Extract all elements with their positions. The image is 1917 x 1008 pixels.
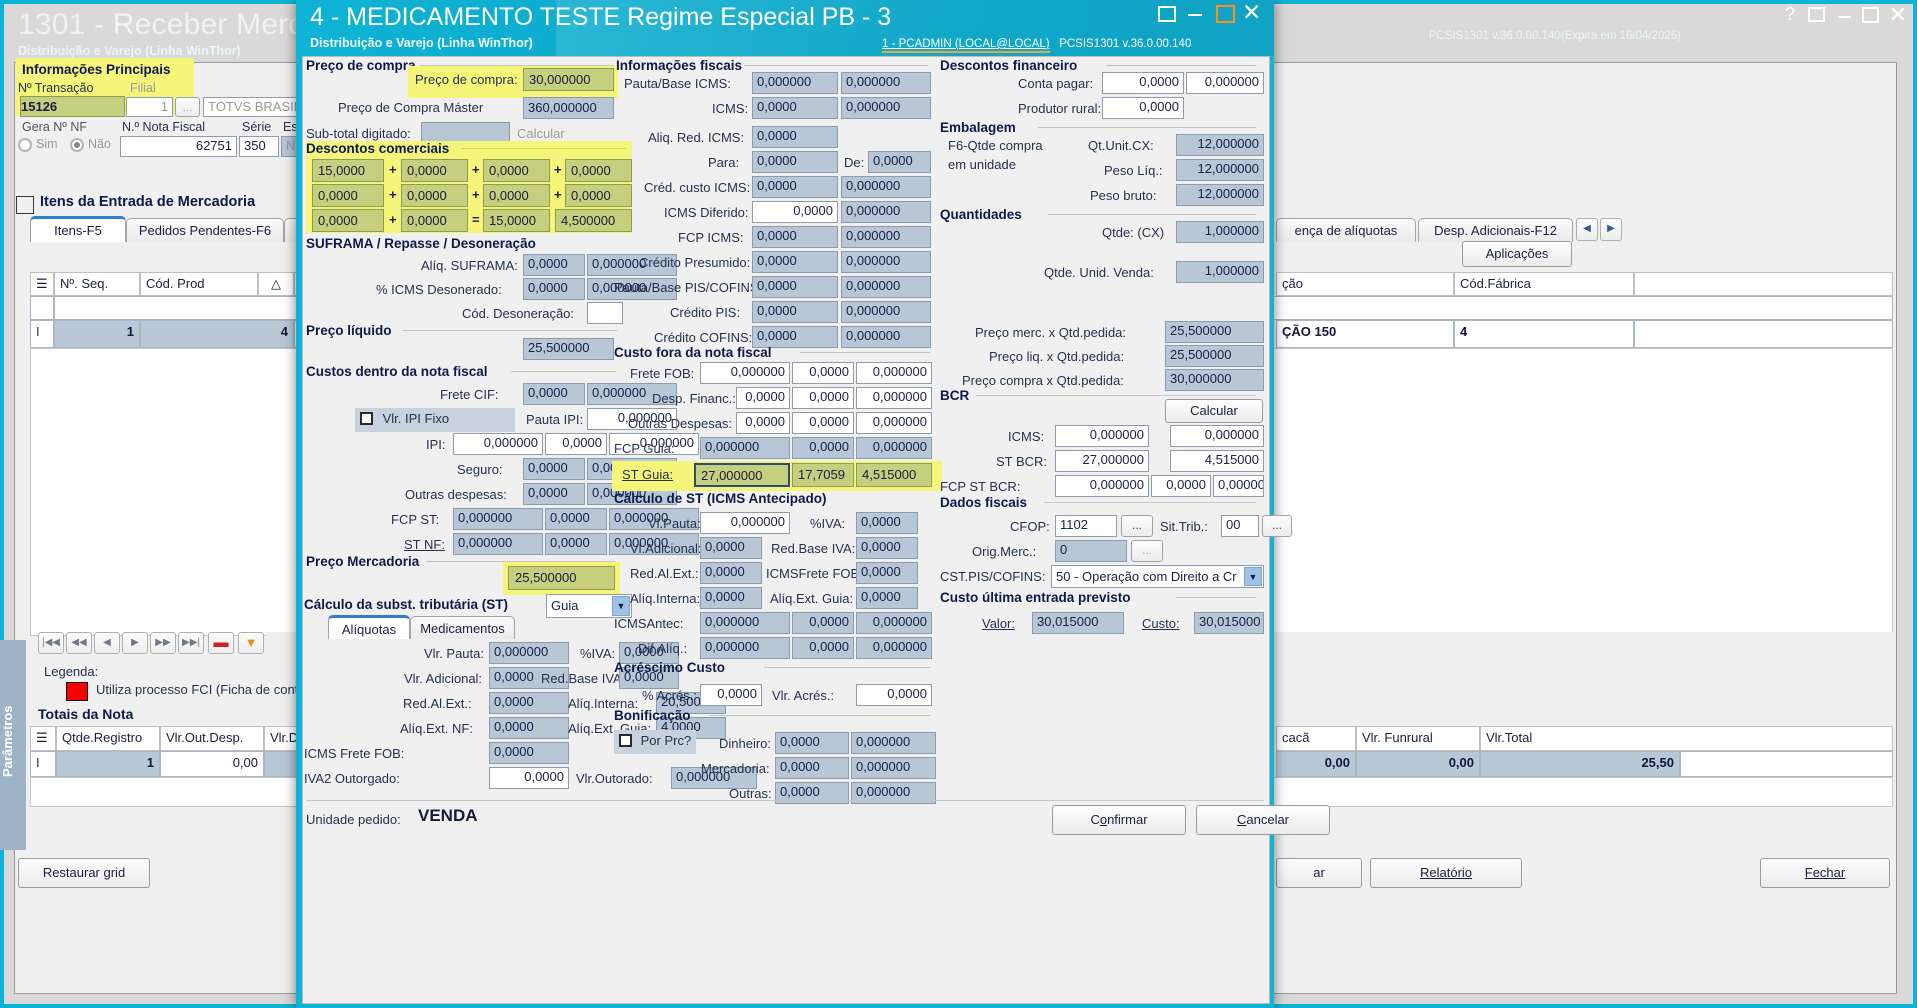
ant-vl-pauta-v1[interactable]: 0,000000 <box>700 512 790 534</box>
desconto-1-4[interactable]: 0,0000 <box>565 159 632 182</box>
modal-version: PCSIS1301 v.36.0.00.140 <box>1059 38 1191 50</box>
help-icon[interactable]: ? <box>1785 4 1795 25</box>
suframa-caption: SUFRAMA / Repasse / Desoneração <box>306 236 536 251</box>
embalagem-caption: Embalagem <box>940 120 1016 135</box>
bcr-icms-v1[interactable]: 0,000000 <box>1055 425 1149 447</box>
confirmar-label: Confirmar <box>1090 812 1147 827</box>
prev-record-icon[interactable]: ◀ <box>94 632 120 654</box>
cst-pis-cofins-label: CST.PIS/COFINS: <box>940 569 1045 584</box>
gera-nf-label: Gera Nº NF <box>22 120 87 134</box>
bcr-caption: BCR <box>940 388 969 403</box>
totals-col-outdesp[interactable]: Vlr.Out.Desp. <box>160 726 264 751</box>
sit-trib-input[interactable]: 00 <box>1221 515 1259 537</box>
ant-dif-aliq-v3: 0,000000 <box>856 637 932 659</box>
desconto-2-1[interactable]: 0,0000 <box>312 184 384 207</box>
fechar-button[interactable]: Fechar <box>1760 858 1890 888</box>
legend-color-swatch <box>66 682 88 701</box>
transacao-input[interactable]: 15126 <box>20 96 125 117</box>
modal-user-info: 1 - PCADMIN (LOCAL@LOCAL) PCSIS1301 v.36… <box>882 38 1191 50</box>
descontos-comerciais-caption: Descontos comerciais <box>306 141 449 156</box>
desconto-3-1[interactable]: 0,0000 <box>312 209 384 232</box>
cred-custo-icms-v1[interactable]: 0,0000 <box>752 176 838 198</box>
cred-custo-icms-v2: 0,000000 <box>841 176 931 198</box>
ant-dif-aliq-v2: 0,0000 <box>792 637 854 659</box>
bcr-fcp-st-label: FCP ST BCR: <box>940 479 1020 494</box>
frete-fob-v1[interactable]: 0,000000 <box>700 362 790 384</box>
ant-icms-frete-fob-v1[interactable]: 0,0000 <box>856 562 918 584</box>
table-row-blank <box>1634 320 1893 348</box>
st-guia-v3: 4,515000 <box>856 463 932 487</box>
modal-title: 4 - MEDICAMENTO TESTE Regime Especial PB… <box>310 3 891 32</box>
cfop-input[interactable]: 1102 <box>1055 515 1117 537</box>
vlr-ipi-fixo-label: Vlr. IPI Fixo <box>383 411 449 426</box>
bcr-st-v2[interactable]: 4,515000 <box>1170 450 1264 472</box>
ant-icmsantec-v1[interactable]: 0,000000 <box>700 612 790 634</box>
background-window-version: PCSIS1301 v.36.0.00.140(Expira em 16/04/… <box>1429 30 1681 42</box>
pauta-base-pis-cofins-label: Pauta/Base PIS/COFINS: <box>614 280 762 295</box>
st-aliq-ext-nf-label: Alíq.Ext. NF: <box>400 721 473 736</box>
desconto-3-2[interactable]: 0,0000 <box>401 209 468 232</box>
close-icon[interactable]: ✕ <box>1889 2 1907 28</box>
cfop-label: CFOP: <box>1010 519 1050 534</box>
expand-panel-icon[interactable] <box>16 196 34 214</box>
ant-aliq-interna-v1[interactable]: 0,0000 <box>700 587 762 609</box>
desconto-op-7: + <box>389 212 397 227</box>
orig-merc-value: 0 <box>1055 540 1127 562</box>
seguro-v1[interactable]: 0,0000 <box>523 458 585 480</box>
restore-icon[interactable] <box>1808 7 1825 22</box>
outras-despesas-fora-v2[interactable]: 0,0000 <box>792 412 854 434</box>
acrescimo-pct-label: % Acrés.: <box>642 688 697 703</box>
table-row-seq[interactable]: 1 <box>54 320 140 348</box>
calcular-button-top[interactable]: Calcular <box>517 126 565 141</box>
relatorio-label: Relatório <box>1420 865 1472 880</box>
nota-fiscal-input[interactable]: 62751 <box>120 136 237 157</box>
custo-ultima-custo-value: 30,015000 <box>1194 612 1264 634</box>
desconto-op-3: + <box>554 162 562 177</box>
para-v1[interactable]: 0,0000 <box>752 151 838 173</box>
icms-desonerado-v1[interactable]: 0,0000 <box>523 278 585 300</box>
last-record-icon[interactable]: ▶▶| <box>178 632 204 654</box>
table-row-cod-fabrica[interactable]: 4 <box>1454 320 1634 348</box>
bonif-mercadoria-label: Mercadoria: <box>701 761 770 776</box>
desconto-2-3[interactable]: 0,0000 <box>483 184 550 207</box>
minimize-icon[interactable] <box>1188 14 1202 16</box>
tabs-scroll-left-icon[interactable]: ◀ <box>1576 218 1598 241</box>
radio-nao-label: Não <box>88 137 111 151</box>
aliq-suframa-v1[interactable]: 0,0000 <box>523 254 585 276</box>
calc-st-caption: Cálculo da subst. tributária (ST) <box>304 597 508 612</box>
ar-button[interactable]: ar <box>1276 858 1362 888</box>
filial-label: Filial <box>130 81 156 95</box>
desconto-op-5: + <box>472 187 480 202</box>
custo-ultima-caption: Custo última entrada previsto <box>940 590 1131 605</box>
ipi-label: IPI: <box>426 437 446 452</box>
minimize-icon[interactable] <box>1838 16 1851 18</box>
tab-itens-f5[interactable]: Itens-F5 <box>30 216 126 242</box>
pauta-ipi-label: Pauta IPI: <box>526 412 583 427</box>
delete-record-icon[interactable]: ▬ <box>208 632 234 654</box>
cod-desoneracao-label: Cód. Desoneração: <box>462 306 574 321</box>
custo-ultima-custo-label[interactable]: Custo: <box>1142 616 1180 631</box>
st-red-base-iva-label: Red.Base IVA: <box>541 671 625 686</box>
grid-corner-icon: ☰ <box>30 272 54 296</box>
de-label: De: <box>844 155 864 170</box>
ant-icmsantec-v2: 0,0000 <box>792 612 854 634</box>
row-indicator-icon: I <box>30 320 54 348</box>
col-blank <box>1634 272 1893 296</box>
ant-dif-aliq-v1[interactable]: 0,000000 <box>700 637 790 659</box>
st-aliq-ext-nf-value[interactable]: 0,0000 <box>489 717 569 739</box>
desconto-3-valor: 4,500000 <box>555 209 632 232</box>
fcp-guia-v1[interactable]: 0,000000 <box>700 437 790 459</box>
st-red-al-ext-value[interactable]: 0,0000 <box>489 692 569 714</box>
fcp-icms-v1[interactable]: 0,0000 <box>752 226 838 248</box>
col-descricao[interactable]: ção <box>1276 272 1454 296</box>
preco-compra-qtd-value: 30,000000 <box>1165 369 1264 391</box>
prev-page-icon[interactable]: ◀◀ <box>66 632 92 654</box>
totals-col-qtde[interactable]: Qtde.Registro <box>56 726 160 751</box>
dados-fiscais-caption: Dados fiscais <box>940 495 1027 510</box>
totals-corner-icon: ☰ <box>30 726 56 751</box>
desconto-1-3[interactable]: 0,0000 <box>483 159 550 182</box>
bcr-fcp-st-v1[interactable]: 0,000000 <box>1055 475 1149 497</box>
custos-nf-caption: Custos dentro da nota fiscal <box>306 364 488 379</box>
ant-red-al-ext-label: Red.Al.Ext.: <box>630 566 699 581</box>
por-prc-box[interactable]: Por Prc? <box>614 730 696 754</box>
radio-nao[interactable] <box>70 138 84 152</box>
frete-fob-v2[interactable]: 0,0000 <box>792 362 854 384</box>
seguro-label: Seguro: <box>457 462 503 477</box>
acrescimo-custo-caption: Acréscimo Custo <box>614 660 725 675</box>
item-detail-modal: 4 - MEDICAMENTO TESTE Regime Especial PB… <box>296 0 1274 1008</box>
cod-desoneracao-input[interactable] <box>587 302 623 324</box>
relatorio-button[interactable]: Relatório <box>1370 858 1522 888</box>
totals-col-total[interactable]: Vlr.Total <box>1480 726 1893 751</box>
preco-liq-qtd-label: Preço liq. x Qtd.pedida: <box>989 349 1124 364</box>
ant-iva-v1[interactable]: 0,0000 <box>856 512 918 534</box>
maximize-icon[interactable] <box>1216 5 1235 23</box>
sit-trib-browse-button[interactable]: ... <box>1262 515 1292 537</box>
icms-label: ICMS: <box>712 101 748 116</box>
icms-diferido-label: ICMS Diferido: <box>664 205 749 220</box>
icms-v1[interactable]: 0,0000 <box>752 97 838 119</box>
acrescimo-vlr-value[interactable]: 0,0000 <box>856 684 932 706</box>
ant-aliq-ext-guia-label: Alíq.Ext. Guia: <box>770 591 853 606</box>
ant-red-base-iva-v1[interactable]: 0,0000 <box>856 537 918 559</box>
unidade-pedido-value: VENDA <box>418 806 478 826</box>
st-vlr-pauta-value[interactable]: 0,000000 <box>489 642 569 664</box>
aliq-red-icms-label: Aliq. Red. ICMS: <box>648 130 744 145</box>
confirmar-button[interactable]: Confirmar <box>1052 805 1186 835</box>
totals-row-cacao[interactable]: 0,00 <box>1276 751 1356 777</box>
acrescimo-vlr-label: Vlr. Acrés.: <box>772 688 834 703</box>
preco-liquido-caption: Preço líquido <box>306 323 392 338</box>
ant-icmsantec-label: ICMSAntec: <box>614 616 683 631</box>
items-section-caption: Itens da Entrada de Mercadoria <box>40 194 255 210</box>
tab-aliquotas[interactable]: Alíquotas <box>328 615 410 639</box>
embalagem-note-line2: em unidade <box>948 157 1016 172</box>
preco-merc-qtd-label: Preço merc. x Qtd.pedida: <box>975 325 1126 340</box>
serie-label: Série <box>242 120 271 134</box>
serie-input[interactable]: 350 <box>239 136 279 157</box>
ipi-v2[interactable]: 0,0000 <box>545 433 607 455</box>
conta-pagar-label: Conta pagar: <box>1018 76 1093 91</box>
bcr-icms-v2[interactable]: 0,000000 <box>1170 425 1264 447</box>
vlr-ipi-fixo-box[interactable]: Vlr. IPI Fixo <box>355 408 515 432</box>
desp-financ-v3[interactable]: 0,000000 <box>856 387 932 409</box>
totals-row-outdesp[interactable]: 0,00 <box>160 751 264 777</box>
ant-icmsantec-v3: 0,000000 <box>856 612 932 634</box>
cfop-browse-button[interactable]: ... <box>1121 515 1153 537</box>
tab-medicamentos[interactable]: Medicamentos <box>410 616 515 639</box>
para-label: Para: <box>708 155 739 170</box>
chevron-down-icon[interactable]: ▼ <box>612 596 630 616</box>
totals-col-cacao[interactable]: cacã <box>1276 726 1356 751</box>
st-guia-label[interactable]: ST Guia: <box>622 467 673 482</box>
st-vlr-outorado-label: Vlr.Outorado: <box>576 771 653 786</box>
bcr-st-v1[interactable]: 27,000000 <box>1055 450 1149 472</box>
totals-row-total[interactable]: 25,50 <box>1480 751 1680 777</box>
fcp-guia-v3: 0,000000 <box>856 437 932 459</box>
frete-fob-v3[interactable]: 0,000000 <box>856 362 932 384</box>
calc-st-antecipado-caption: Cálculo de ST (ICMS Antecipado) <box>614 491 827 506</box>
desconto-1-2[interactable]: 0,0000 <box>401 159 468 182</box>
qtde-cx-value: 1,000000 <box>1176 221 1264 243</box>
st-icms-frete-fob-value[interactable]: 0,0000 <box>489 742 569 764</box>
icms-diferido-v1[interactable]: 0,0000 <box>752 201 838 223</box>
conta-pagar-v2[interactable]: 0,000000 <box>1186 72 1264 94</box>
close-icon[interactable]: ✕ <box>1242 0 1261 26</box>
col-cod-fabrica[interactable]: Cód.Fábrica <box>1454 272 1634 296</box>
credito-pis-v2: 0,000000 <box>841 301 931 323</box>
pauta-base-icms-v1[interactable]: 0,000000 <box>752 72 838 94</box>
sort-indicator-icon: △ <box>258 272 294 296</box>
credito-pis-v1[interactable]: 0,0000 <box>752 301 838 323</box>
conta-pagar-v1[interactable]: 0,0000 <box>1102 72 1184 94</box>
bonif-dinheiro-v1[interactable]: 0,0000 <box>775 732 849 754</box>
background-window-subtitle: Distribuição e Varejo (Linha WinThor) <box>18 44 241 58</box>
table-row-descricao[interactable]: ÇÃO 150 <box>1276 320 1454 348</box>
preco-compra-qtd-label: Preço compra x Qtd.pedida: <box>962 373 1124 388</box>
cancelar-label: Cancelar <box>1237 812 1289 827</box>
st-nf-v2: 0,0000 <box>545 533 607 555</box>
desconto-op-6: + <box>554 187 562 202</box>
bonif-mercadoria-v2: 0,000000 <box>851 757 936 779</box>
totals-row-funrural[interactable]: 0,00 <box>1356 751 1480 777</box>
first-record-icon[interactable]: |◀◀ <box>38 632 64 654</box>
peso-bruto-label: Peso bruto: <box>1090 188 1157 203</box>
grid-subrow-left <box>30 296 54 320</box>
qtde-cx-label: Qtde: (CX) <box>1102 225 1164 240</box>
next-record-icon[interactable]: ▶ <box>122 632 148 654</box>
qt-unit-cx-value: 12,000000 <box>1176 134 1264 156</box>
filter-icon[interactable]: ▼ <box>238 632 264 654</box>
tab-desp-adicionais-f12[interactable]: Desp. Adicionais-F12 <box>1418 218 1573 242</box>
ant-vl-pauta-label: Vl.Pauta: <box>648 516 701 531</box>
custo-fora-nf-caption: Custo fora da nota fiscal <box>614 345 772 360</box>
qtde-unid-venda-label: Qtde. Unid. Venda: <box>1044 265 1154 280</box>
tab-pedidos-pendentes[interactable]: Pedidos Pendentes-F6 <box>126 218 284 242</box>
acrescimo-pct-value[interactable]: 0,0000 <box>700 684 762 706</box>
frete-cif-v1[interactable]: 0,0000 <box>523 383 585 405</box>
col-cod-prod[interactable]: Cód. Prod <box>140 272 258 296</box>
custo-ultima-valor-label[interactable]: Valor: <box>982 616 1015 631</box>
st-vlr-adicional-label: Vlr. Adicional: <box>404 671 482 686</box>
st-iva2-outorgado-value[interactable]: 0,0000 <box>489 767 569 789</box>
desconto-op-2: + <box>472 162 480 177</box>
bonif-dinheiro-v2: 0,000000 <box>851 732 936 754</box>
legend-text: Utiliza processo FCI (Ficha de cont <box>96 682 298 697</box>
modal-subtitle: Distribuição e Varejo (Linha WinThor) <box>310 36 533 50</box>
parametros-vertical-tab[interactable]: Parâmetros <box>0 640 26 850</box>
st-nf-label[interactable]: ST NF: <box>404 537 445 552</box>
cancelar-button[interactable]: Cancelar <box>1196 805 1330 835</box>
ant-iva-label: %IVA: <box>810 516 845 531</box>
totals-col-funrural[interactable]: Vlr. Funrural <box>1356 726 1480 751</box>
tabs-scroll-right-icon[interactable]: ▶ <box>1600 218 1622 241</box>
restore-icon[interactable] <box>1158 6 1176 22</box>
preco-compra-master-field: 360,000000 <box>523 97 614 119</box>
col-seq[interactable]: Nº. Seq. <box>54 272 140 296</box>
totals-caption: Totais da Nota <box>38 706 133 722</box>
ant-aliq-ext-guia-v1[interactable]: 0,0000 <box>856 587 918 609</box>
credito-cofins-label: Crédito COFINS: <box>654 330 752 345</box>
ant-red-base-iva-label: Red.Base IVA: <box>771 541 855 556</box>
outras-despesas-fora-v1[interactable]: 0,0000 <box>736 412 790 434</box>
fcp-guia-label: FCP Guia: <box>614 441 674 456</box>
credito-presumido-label: Crédito Presumido: <box>639 255 750 270</box>
outras-despesas-fora-v3[interactable]: 0,000000 <box>856 412 932 434</box>
outras-despesas-fora-label: Outras Despesas: <box>628 416 732 431</box>
bonif-mercadoria-v1[interactable]: 0,0000 <box>775 757 849 779</box>
embalagem-note-line1: F6-Qtde compra <box>948 138 1043 153</box>
pauta-base-pis-cofins-v1[interactable]: 0,0000 <box>752 276 838 298</box>
maximize-icon[interactable] <box>1862 7 1879 23</box>
filial-browse-button[interactable]: ... <box>175 97 200 117</box>
icms-desonerado-label: % ICMS Desonerado: <box>376 282 502 297</box>
bonif-dinheiro-label: Dinheiro: <box>719 736 771 751</box>
fcp-st-v1[interactable]: 0,000000 <box>453 508 543 530</box>
qt-unit-cx-label: Qt.Unit.CX: <box>1088 138 1154 153</box>
frete-fob-label: Frete FOB: <box>630 366 694 381</box>
main-info-caption: Informações Principais <box>22 62 171 77</box>
chevron-down-icon[interactable]: ▼ <box>1244 567 1262 586</box>
credito-cofins-v2: 0,000000 <box>841 326 931 348</box>
icms-diferido-v2: 0,000000 <box>841 201 931 223</box>
de-v1[interactable]: 0,0000 <box>868 151 931 173</box>
bcr-fcp-st-v3[interactable]: 0,000000 <box>1213 475 1264 497</box>
st-red-al-ext-label: Red.Al.Ext.: <box>403 696 472 711</box>
calc-st-select[interactable]: Guia ▼ <box>546 594 632 618</box>
unidade-pedido-label: Unidade pedido: <box>306 812 401 827</box>
desconto-op-1: + <box>389 162 397 177</box>
desp-financ-label: Desp. Financ.: <box>652 391 736 406</box>
produtor-rural-v1[interactable]: 0,0000 <box>1102 97 1184 119</box>
totals-row-qtde[interactable]: 1 <box>56 751 160 777</box>
st-vlr-pauta-label: Vlr. Pauta: <box>424 646 484 661</box>
bcr-st-label: ST BCR: <box>996 454 1047 469</box>
fcp-icms-label: FCP ICMS: <box>678 230 744 245</box>
fcp-st-v2: 0,0000 <box>545 508 607 530</box>
filial-input[interactable]: 1 <box>126 97 173 117</box>
icms-v2: 0,000000 <box>841 97 931 119</box>
vlr-ipi-fixo-checkbox[interactable] <box>360 412 373 425</box>
credito-pis-label: Crédito PIS: <box>670 305 740 320</box>
outras-despesas-label: Outras despesas: <box>405 487 507 502</box>
orig-merc-browse-button[interactable]: ... <box>1131 540 1163 562</box>
outras-despesas-v1[interactable]: 0,0000 <box>523 483 585 505</box>
preco-compra-input[interactable]: 30,000000 <box>523 68 614 91</box>
credito-presumido-v1[interactable]: 0,0000 <box>752 251 838 273</box>
restaurar-grid-button[interactable]: Restaurar grid <box>18 858 150 888</box>
bonif-outras-label: Outras: <box>729 786 772 801</box>
por-prc-label: Por Prc? <box>641 733 692 748</box>
st-iva2-outorgado-label: IVA2 Outorgado: <box>304 771 400 786</box>
bcr-calcular-button[interactable]: Calcular <box>1165 399 1263 423</box>
next-page-icon[interactable]: ▶▶ <box>150 632 176 654</box>
radio-sim[interactable] <box>18 138 32 152</box>
desconto-3-total: 15,0000 <box>483 209 550 232</box>
orig-merc-label: Orig.Merc.: <box>972 544 1036 559</box>
info-fiscais-caption: Informações fiscais <box>616 58 742 73</box>
ant-vl-adicional-v1[interactable]: 0,0000 <box>700 537 762 559</box>
ant-icms-frete-fob-label: ICMSFrete FOB: <box>766 566 863 581</box>
bcr-icms-label: ICMS: <box>1008 429 1044 444</box>
credito-presumido-v2: 0,000000 <box>841 251 931 273</box>
legend-caption: Legenda: <box>44 664 98 679</box>
desp-financ-v2[interactable]: 0,0000 <box>792 387 854 409</box>
peso-bruto-value: 12,000000 <box>1176 184 1264 206</box>
transacao-label: Nº Transação <box>18 81 93 95</box>
ant-vl-adicional-label: Vl.Adicional: <box>630 541 702 556</box>
aliq-red-icms-v1[interactable]: 0,0000 <box>752 126 838 148</box>
pauta-base-icms-v2: 0,000000 <box>841 72 931 94</box>
bcr-fcp-st-v2[interactable]: 0,0000 <box>1151 475 1211 497</box>
st-icms-frete-fob-label: ICMS Frete FOB: <box>304 746 404 761</box>
ant-dif-aliq-label: Dif.Alíq.: <box>638 641 687 656</box>
custo-ultima-valor-value: 30,015000 <box>1032 612 1124 634</box>
preco-mercadoria-value: 25,500000 <box>508 566 615 590</box>
desconto-1-1[interactable]: 15,0000 <box>312 159 384 182</box>
st-nf-v1[interactable]: 0,000000 <box>453 533 543 555</box>
desconto-op-4: + <box>389 187 397 202</box>
ant-red-al-ext-v1[interactable]: 0,0000 <box>700 562 762 584</box>
subtotal-label: Sub-total digitado: <box>306 126 411 141</box>
ipi-v1[interactable]: 0,000000 <box>453 433 543 455</box>
frete-cif-label: Frete CIF: <box>440 387 499 402</box>
aplicacoes-button[interactable]: Aplicações <box>1462 241 1572 267</box>
preco-liquido-value: 25,500000 <box>523 338 614 360</box>
tab-diferenca-aliquotas[interactable]: ença de alíquotas <box>1276 218 1416 242</box>
fcp-icms-v2: 0,000000 <box>841 226 931 248</box>
fechar-label: Fechar <box>1805 865 1845 880</box>
totals-row-blank <box>1680 751 1893 777</box>
desconto-2-2[interactable]: 0,0000 <box>401 184 468 207</box>
ant-aliq-interna-label: Alíq.Interna: <box>630 591 700 606</box>
table-row-cod-prod[interactable]: 4 <box>140 320 294 348</box>
cst-pis-cofins-select[interactable]: 50 - Operação com Direito a Cr ▼ <box>1051 565 1264 588</box>
st-guia-v1[interactable]: 27,000000 <box>694 463 790 487</box>
pauta-base-icms-label: Pauta/Base ICMS: <box>624 76 731 91</box>
por-prc-checkbox[interactable] <box>619 734 632 747</box>
preco-merc-qtd-value: 25,500000 <box>1165 321 1264 343</box>
totals-row-indicator-icon: I <box>30 751 56 777</box>
desconto-2-4[interactable]: 0,0000 <box>565 184 632 207</box>
desp-financ-v1[interactable]: 0,0000 <box>736 387 790 409</box>
modal-user: 1 - PCADMIN (LOCAL@LOCAL) <box>882 38 1050 53</box>
quantidades-caption: Quantidades <box>940 207 1022 222</box>
